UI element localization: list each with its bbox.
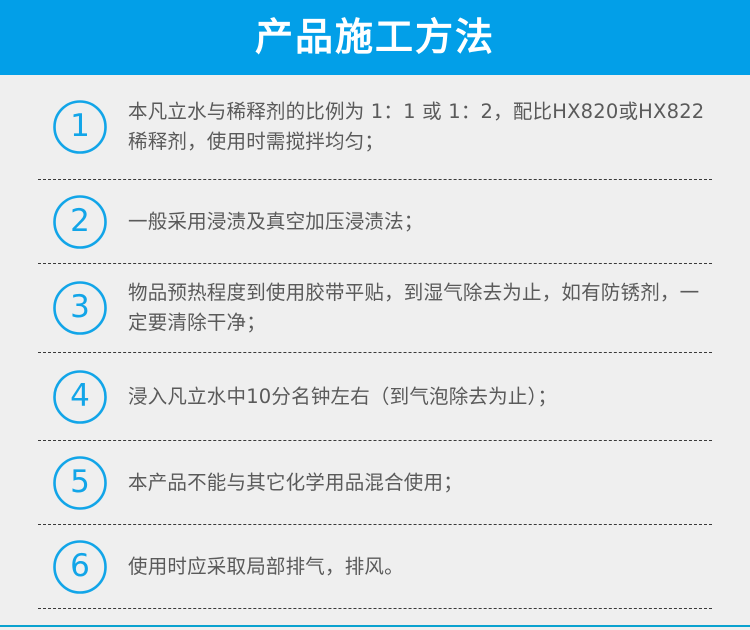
page-header: 产品施工方法 (0, 0, 750, 75)
step-item-1: 1 本凡立水与稀释剂的比例为 1：1 或 1：2，配比HX820或HX822稀释… (38, 75, 712, 180)
step-number-1: 1 (70, 111, 90, 142)
step-number-2: 2 (70, 206, 90, 237)
step-number-badge-3: 3 (52, 280, 108, 336)
step-item-5: 5 本产品不能与其它化学用品混合使用； (38, 441, 712, 525)
step-item-4: 4 浸入凡立水中10分名钟左右（到气泡除去为止）； (38, 353, 712, 441)
step-number-badge-4: 4 (52, 369, 108, 425)
step-text-2: 一般采用浸渍及真空加压浸渍法； (128, 207, 712, 237)
step-number-3: 3 (70, 292, 90, 323)
step-number-6: 6 (70, 551, 90, 582)
product-construction-method-page: 产品施工方法 1 本凡立水与稀释剂的比例为 1：1 或 1：2，配比HX820或… (0, 0, 750, 630)
step-text-3: 物品预热程度到使用胶带平贴，到湿气除去为止，如有防锈剂，一定要清除干净； (128, 278, 712, 338)
step-number-badge-2: 2 (52, 194, 108, 250)
step-item-3: 3 物品预热程度到使用胶带平贴，到湿气除去为止，如有防锈剂，一定要清除干净； (38, 264, 712, 353)
step-item-2: 2 一般采用浸渍及真空加压浸渍法； (38, 180, 712, 264)
step-number-badge-5: 5 (52, 455, 108, 511)
step-item-6: 6 使用时应采取局部排气，排风。 (38, 525, 712, 609)
step-text-1: 本凡立水与稀释剂的比例为 1：1 或 1：2，配比HX820或HX822稀释剂，… (128, 97, 712, 157)
step-number-badge-6: 6 (52, 539, 108, 595)
step-number-4: 4 (70, 381, 90, 412)
step-text-4: 浸入凡立水中10分名钟左右（到气泡除去为止）； (128, 382, 712, 412)
step-number-badge-1: 1 (52, 99, 108, 155)
bottom-accent-bar (0, 625, 750, 627)
step-text-6: 使用时应采取局部排气，排风。 (128, 552, 712, 582)
page-title: 产品施工方法 (255, 18, 495, 56)
steps-list: 1 本凡立水与稀释剂的比例为 1：1 或 1：2，配比HX820或HX822稀释… (0, 75, 750, 625)
step-text-5: 本产品不能与其它化学用品混合使用； (128, 468, 712, 498)
step-number-5: 5 (70, 467, 90, 498)
